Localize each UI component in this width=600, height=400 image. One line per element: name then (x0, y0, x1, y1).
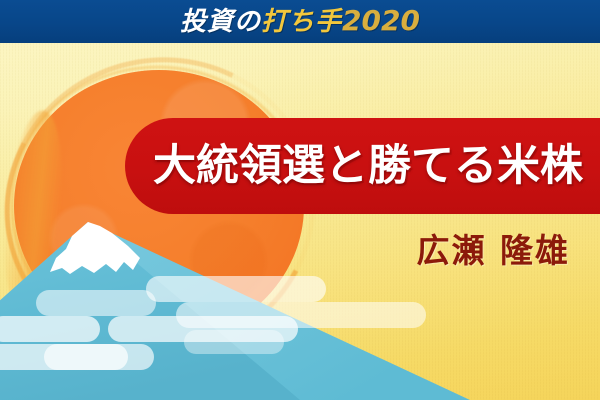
page-title: 大統領選と勝てる米株 (153, 145, 583, 188)
author-name: 広瀬 隆雄 (417, 234, 571, 267)
series-title: 投資の打ち手2020 (180, 7, 420, 35)
series-title-part-white: 投資の (180, 7, 261, 37)
series-title-part-gold: 打ち手 (261, 7, 342, 37)
series-header-bar: 投資の打ち手2020 (0, 0, 600, 43)
main-title-banner: 大統領選と勝てる米株 (125, 118, 600, 214)
article-thumbnail-banner: 投資の打ち手2020 大統領選と勝てる米株 広瀬 隆雄 (0, 0, 600, 400)
series-title-year: 2020 (342, 4, 420, 37)
